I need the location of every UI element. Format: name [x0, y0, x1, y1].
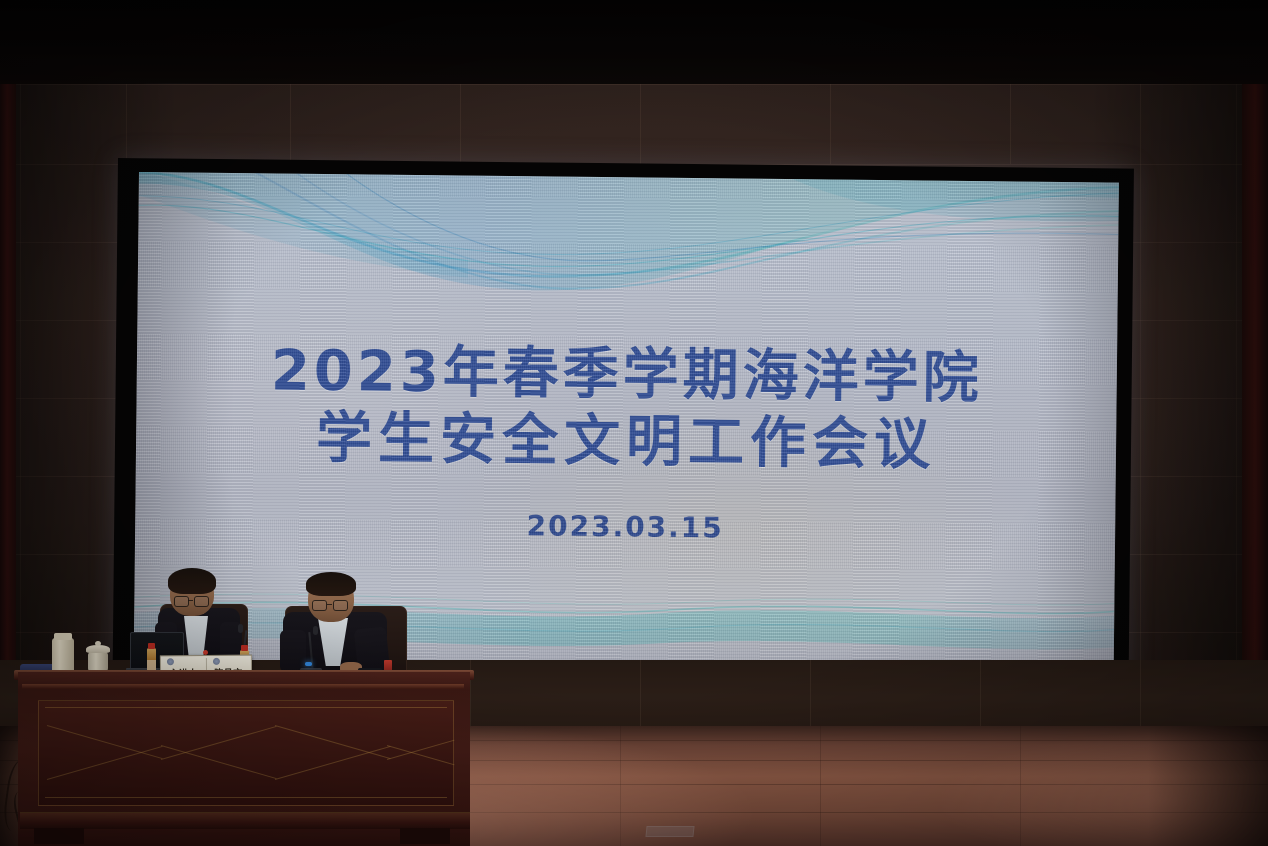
teacup-knob — [95, 641, 101, 646]
microphone-indicator-light — [305, 662, 312, 666]
table-foot-right — [400, 828, 450, 844]
ceiling — [0, 0, 1268, 86]
thermos-cap — [54, 633, 72, 640]
microphone-right-head — [313, 626, 318, 635]
slide-date: 2023.03.15 — [526, 509, 723, 544]
photo-scene: 2023年春季学期海洋学院 学生安全文明工作会议 2023.03.15 — [0, 0, 1268, 846]
left-curtain — [0, 84, 16, 724]
slide-title-line1: 2023年春季学期海洋学院 — [271, 341, 983, 408]
table-rail — [22, 684, 464, 689]
table-base-molding — [20, 812, 470, 829]
water-bottle-left-cap — [148, 643, 155, 649]
right-curtain — [1242, 84, 1268, 724]
floor-vent — [645, 826, 694, 837]
teacup-lid — [86, 645, 110, 653]
water-bottle-right-cap — [241, 645, 248, 651]
slide-title-line2: 学生安全文明工作会议 — [316, 409, 937, 475]
table-foot-left — [34, 828, 84, 844]
table-front-panel — [38, 700, 454, 806]
microphone-left-head — [238, 624, 243, 633]
led-screen: 2023年春季学期海洋学院 学生安全文明工作会议 2023.03.15 — [134, 172, 1119, 675]
slide-content: 2023年春季学期海洋学院 学生安全文明工作会议 2023.03.15 — [134, 172, 1119, 675]
